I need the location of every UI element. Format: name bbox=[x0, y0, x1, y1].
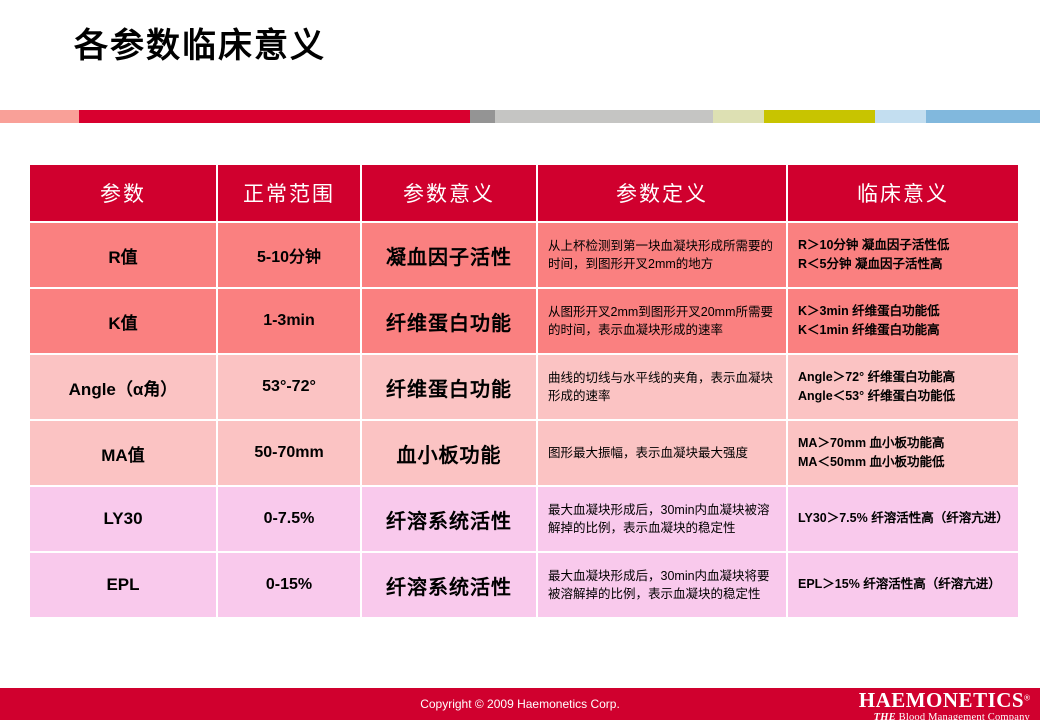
clinical-line: LY30＞7.5% 纤溶活性高（纤溶亢进） bbox=[798, 509, 1012, 528]
column-header-1: 正常范围 bbox=[218, 165, 360, 221]
logo-tagline-rest: Blood Management Company bbox=[899, 712, 1030, 723]
table-row: R值5-10分钟凝血因子活性从上杯检测到第一块血凝块形成所需要的时间，到图形开叉… bbox=[30, 223, 1018, 287]
cell-parameter: Angle（α角） bbox=[30, 355, 216, 419]
table-header-row: 参数正常范围参数意义参数定义临床意义 bbox=[30, 165, 1018, 221]
table-row: K值1-3min纤维蛋白功能从图形开叉2mm到图形开叉20mm所需要的时间，表示… bbox=[30, 289, 1018, 353]
cell-clinical-significance: K＞3min 纤维蛋白功能低K＜1min 纤维蛋白功能高 bbox=[788, 289, 1018, 353]
clinical-line: Angle＞72° 纤维蛋白功能高 bbox=[798, 368, 1012, 387]
column-header-2: 参数意义 bbox=[362, 165, 536, 221]
cell-clinical-significance: EPL＞15% 纤溶活性高（纤溶亢进） bbox=[788, 553, 1018, 617]
color-bar-segment-pale-blue bbox=[875, 110, 926, 123]
clinical-line: K＜1min 纤维蛋白功能高 bbox=[798, 321, 1012, 340]
cell-parameter: LY30 bbox=[30, 487, 216, 551]
table-row: EPL0-15%纤溶系统活性最大血凝块形成后，30min内血凝块将要被溶解掉的比… bbox=[30, 553, 1018, 617]
registered-trademark-icon: ® bbox=[1024, 694, 1030, 703]
table-row: LY300-7.5%纤溶系统活性最大血凝块形成后，30min内血凝块被溶解掉的比… bbox=[30, 487, 1018, 551]
cell-normal-range: 0-15% bbox=[218, 553, 360, 617]
cell-normal-range: 50-70mm bbox=[218, 421, 360, 485]
color-bar-segment-salmon bbox=[0, 110, 79, 123]
color-bar-segment-dark-gray bbox=[470, 110, 495, 123]
color-bar-segment-pale-olive bbox=[713, 110, 764, 123]
logo-tagline: THE Blood Management Company bbox=[859, 713, 1030, 724]
cell-parameter: MA值 bbox=[30, 421, 216, 485]
table-row: MA值50-70mm血小板功能图形最大振幅，表示血凝块最大强度MA＞70mm 血… bbox=[30, 421, 1018, 485]
cell-normal-range: 1-3min bbox=[218, 289, 360, 353]
cell-parameter-definition: 最大血凝块形成后，30min内血凝块被溶解掉的比例，表示血凝块的稳定性 bbox=[538, 487, 786, 551]
cell-normal-range: 53°-72° bbox=[218, 355, 360, 419]
color-bar-segment-crimson bbox=[79, 110, 470, 123]
cell-parameter-meaning: 纤溶系统活性 bbox=[362, 487, 536, 551]
logo-wordmark: HAEMONETICS bbox=[859, 690, 1024, 711]
cell-parameter: EPL bbox=[30, 553, 216, 617]
cell-parameter-meaning: 血小板功能 bbox=[362, 421, 536, 485]
footer-bar: Copyright © 2009 Haemonetics Corp. HAEMO… bbox=[0, 688, 1040, 720]
cell-parameter-definition: 从图形开叉2mm到图形开叉20mm所需要的时间，表示血凝块形成的速率 bbox=[538, 289, 786, 353]
clinical-line: MA＜50mm 血小板功能低 bbox=[798, 453, 1012, 472]
column-header-3: 参数定义 bbox=[538, 165, 786, 221]
cell-parameter: R值 bbox=[30, 223, 216, 287]
cell-parameter-definition: 图形最大振幅，表示血凝块最大强度 bbox=[538, 421, 786, 485]
clinical-line: MA＞70mm 血小板功能高 bbox=[798, 434, 1012, 453]
clinical-line: K＞3min 纤维蛋白功能低 bbox=[798, 302, 1012, 321]
color-bar-segment-olive-yellow bbox=[764, 110, 875, 123]
clinical-line: Angle＜53° 纤维蛋白功能低 bbox=[798, 387, 1012, 406]
column-header-4: 临床意义 bbox=[788, 165, 1018, 221]
cell-parameter-definition: 最大血凝块形成后，30min内血凝块将要被溶解掉的比例，表示血凝块的稳定性 bbox=[538, 553, 786, 617]
clinical-line: EPL＞15% 纤溶活性高（纤溶亢进） bbox=[798, 575, 1012, 594]
clinical-line: R＜5分钟 凝血因子活性高 bbox=[798, 255, 1012, 274]
cell-parameter-definition: 从上杯检测到第一块血凝块形成所需要的时间，到图形开叉2mm的地方 bbox=[538, 223, 786, 287]
haemonetics-logo: HAEMONETICS® THE Blood Management Compan… bbox=[859, 690, 1030, 724]
cell-parameter: K值 bbox=[30, 289, 216, 353]
cell-parameter-meaning: 纤溶系统活性 bbox=[362, 553, 536, 617]
cell-clinical-significance: Angle＞72° 纤维蛋白功能高Angle＜53° 纤维蛋白功能低 bbox=[788, 355, 1018, 419]
cell-parameter-meaning: 纤维蛋白功能 bbox=[362, 355, 536, 419]
color-bar-segment-sky-blue bbox=[926, 110, 1040, 123]
logo-tagline-the: THE bbox=[874, 712, 896, 723]
column-header-0: 参数 bbox=[30, 165, 216, 221]
cell-clinical-significance: MA＞70mm 血小板功能高MA＜50mm 血小板功能低 bbox=[788, 421, 1018, 485]
cell-parameter-meaning: 纤维蛋白功能 bbox=[362, 289, 536, 353]
clinical-parameters-table: 参数正常范围参数意义参数定义临床意义 R值5-10分钟凝血因子活性从上杯检测到第… bbox=[28, 163, 1020, 619]
page-title: 各参数临床意义 bbox=[74, 26, 326, 67]
cell-clinical-significance: LY30＞7.5% 纤溶活性高（纤溶亢进） bbox=[788, 487, 1018, 551]
table-row: Angle（α角）53°-72°纤维蛋白功能曲线的切线与水平线的夹角，表示血凝块… bbox=[30, 355, 1018, 419]
cell-normal-range: 0-7.5% bbox=[218, 487, 360, 551]
cell-parameter-meaning: 凝血因子活性 bbox=[362, 223, 536, 287]
clinical-line: R＞10分钟 凝血因子活性低 bbox=[798, 236, 1012, 255]
cell-clinical-significance: R＞10分钟 凝血因子活性低R＜5分钟 凝血因子活性高 bbox=[788, 223, 1018, 287]
cell-parameter-definition: 曲线的切线与水平线的夹角，表示血凝块形成的速率 bbox=[538, 355, 786, 419]
cell-normal-range: 5-10分钟 bbox=[218, 223, 360, 287]
color-bar-segment-light-gray bbox=[495, 110, 713, 123]
decorative-color-bar bbox=[0, 110, 1040, 123]
